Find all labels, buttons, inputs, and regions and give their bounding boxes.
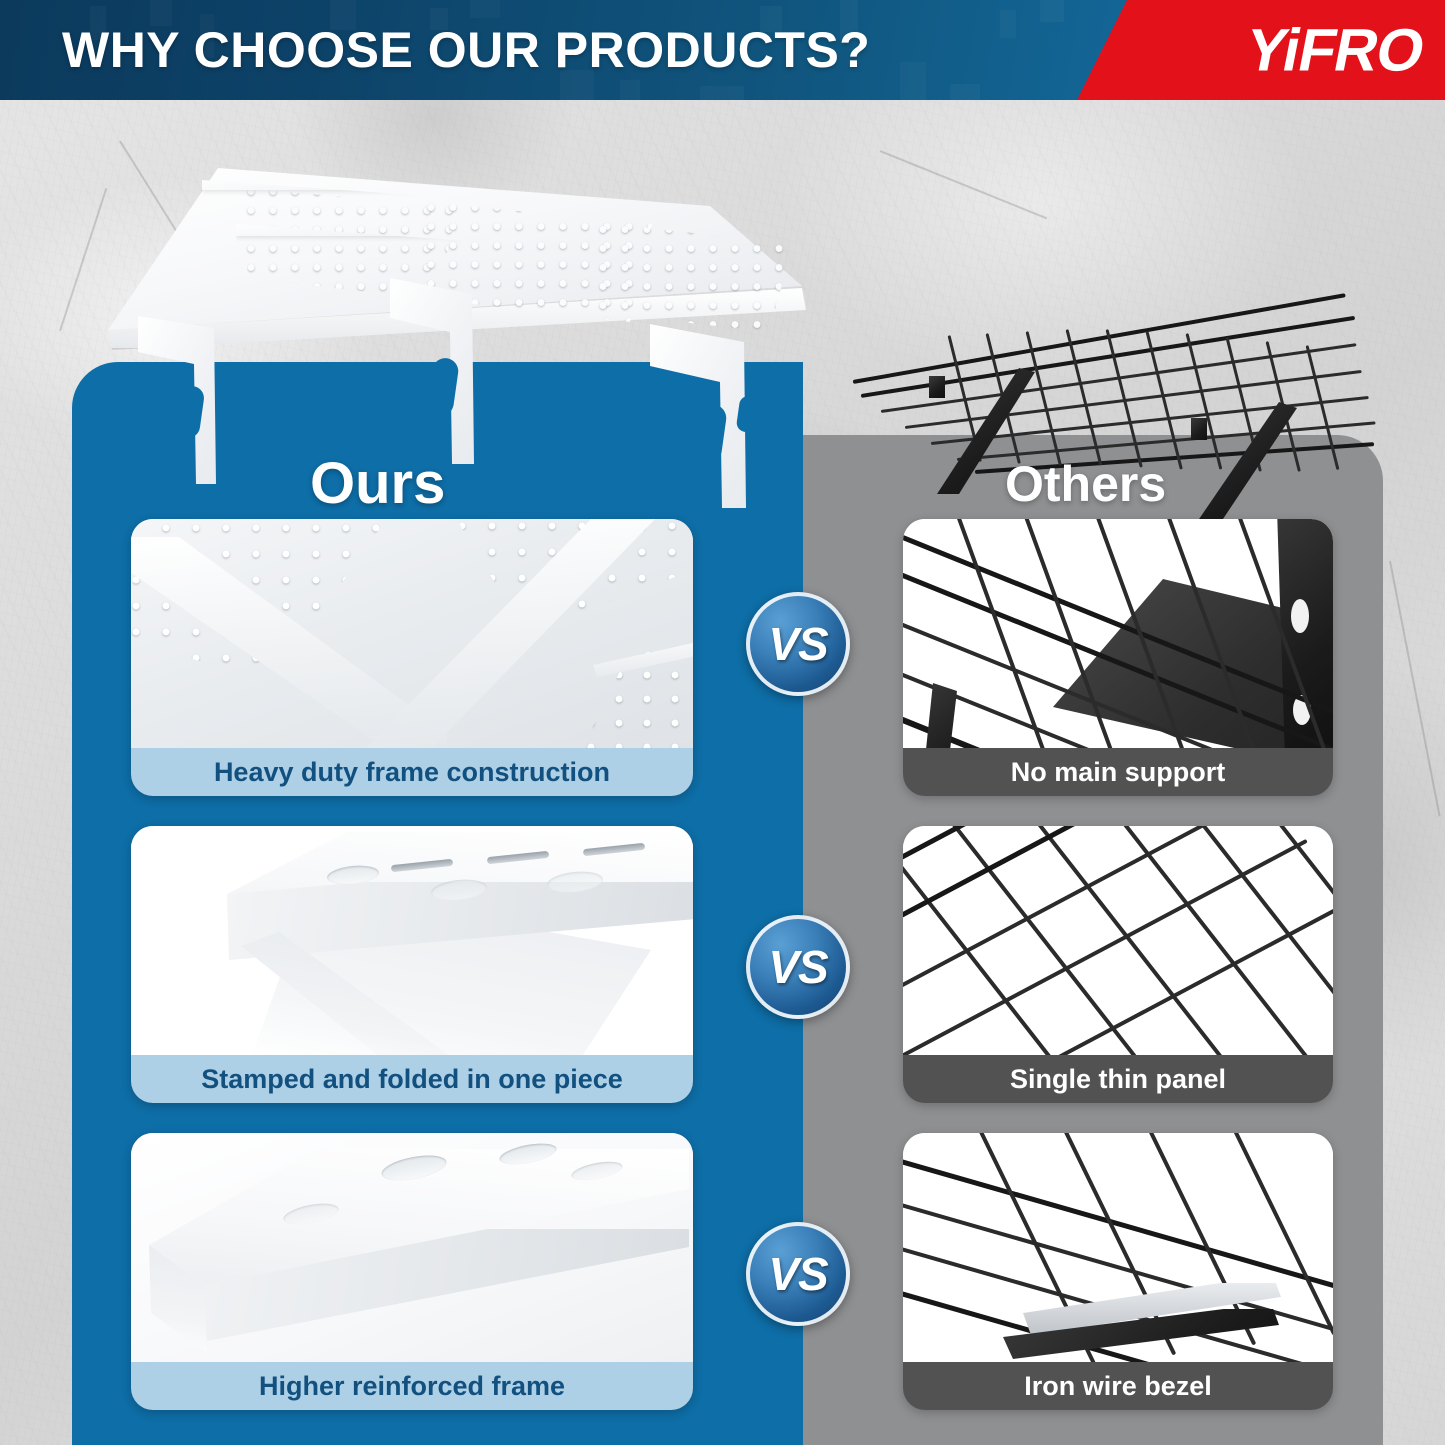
feature-photo-others-1	[903, 519, 1333, 748]
feature-caption-ours-2: Stamped and folded in one piece	[131, 1055, 693, 1103]
feature-card-ours-1[interactable]: Heavy duty frame construction	[131, 519, 693, 796]
bracket-cutout	[736, 395, 759, 433]
vs-label: VS	[768, 1247, 827, 1301]
mesh-wire	[1066, 329, 1103, 466]
vs-badge: VS	[746, 592, 850, 696]
feature-photo-ours-1	[131, 519, 693, 748]
page-header: WHY CHOOSE OUR PRODUCTS? YiFRO	[0, 0, 1445, 100]
vs-badge: VS	[746, 915, 850, 1019]
vs-label: VS	[768, 617, 827, 671]
mesh-wire	[1026, 331, 1062, 466]
vs-badge: VS	[746, 1222, 850, 1326]
mesh-wire	[1146, 331, 1183, 470]
feature-card-others-1[interactable]: No main support	[903, 519, 1333, 796]
brand-logo: YiFRO	[1240, 16, 1430, 85]
vs-label: VS	[768, 940, 827, 994]
feature-card-ours-3[interactable]: Higher reinforced frame	[131, 1133, 693, 1410]
bracket-cutout	[764, 389, 781, 417]
hero-image-ours	[90, 168, 830, 498]
feature-photo-ours-2	[131, 826, 693, 1055]
others-label: Others	[1005, 455, 1166, 513]
feature-caption-others-2: Single thin panel	[903, 1055, 1333, 1103]
feature-card-others-2[interactable]: Single thin panel	[903, 826, 1333, 1103]
page-title: WHY CHOOSE OUR PRODUCTS?	[62, 21, 870, 79]
mesh-wire	[1186, 333, 1223, 470]
mesh-wall-mount	[1191, 418, 1207, 440]
feature-photo-others-3	[903, 1133, 1333, 1362]
feature-photo-others-2	[903, 826, 1333, 1055]
feature-caption-ours-1: Heavy duty frame construction	[131, 748, 693, 796]
feature-caption-others-1: No main support	[903, 748, 1333, 796]
infographic-canvas: WHY CHOOSE OUR PRODUCTS? YiFRO	[0, 0, 1445, 1445]
mesh-wire	[1306, 345, 1340, 470]
mounting-hole	[1291, 599, 1309, 633]
mesh-wall-mount	[929, 376, 945, 398]
feature-card-ours-2[interactable]: Stamped and folded in one piece	[131, 826, 693, 1103]
feature-caption-ours-3: Higher reinforced frame	[131, 1362, 693, 1410]
ours-label: Ours	[310, 450, 445, 517]
feature-caption-others-3: Iron wire bezel	[903, 1362, 1333, 1410]
feature-photo-ours-3	[131, 1133, 693, 1362]
feature-card-others-3[interactable]: Iron wire bezel	[903, 1133, 1333, 1410]
